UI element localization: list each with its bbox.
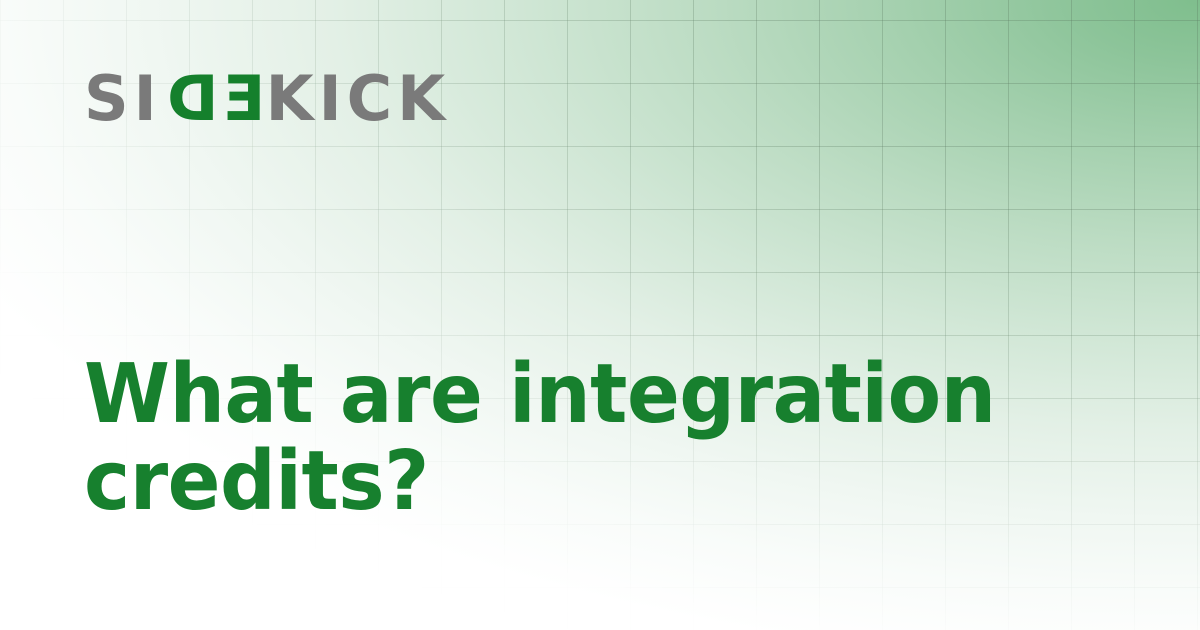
logo-segment-si: SI [84, 68, 162, 130]
card-content: SI D E KICK What are integration credits… [0, 0, 1200, 630]
page-title: What are integration credits? [84, 352, 1015, 526]
og-card: SI D E KICK What are integration credits… [0, 0, 1200, 630]
sidekick-logo: SI D E KICK [84, 68, 450, 130]
logo-segment-e-mirrored: E [218, 68, 265, 130]
logo-segment-d-mirrored: D [162, 68, 218, 130]
logo-segment-kick: KICK [266, 68, 451, 130]
